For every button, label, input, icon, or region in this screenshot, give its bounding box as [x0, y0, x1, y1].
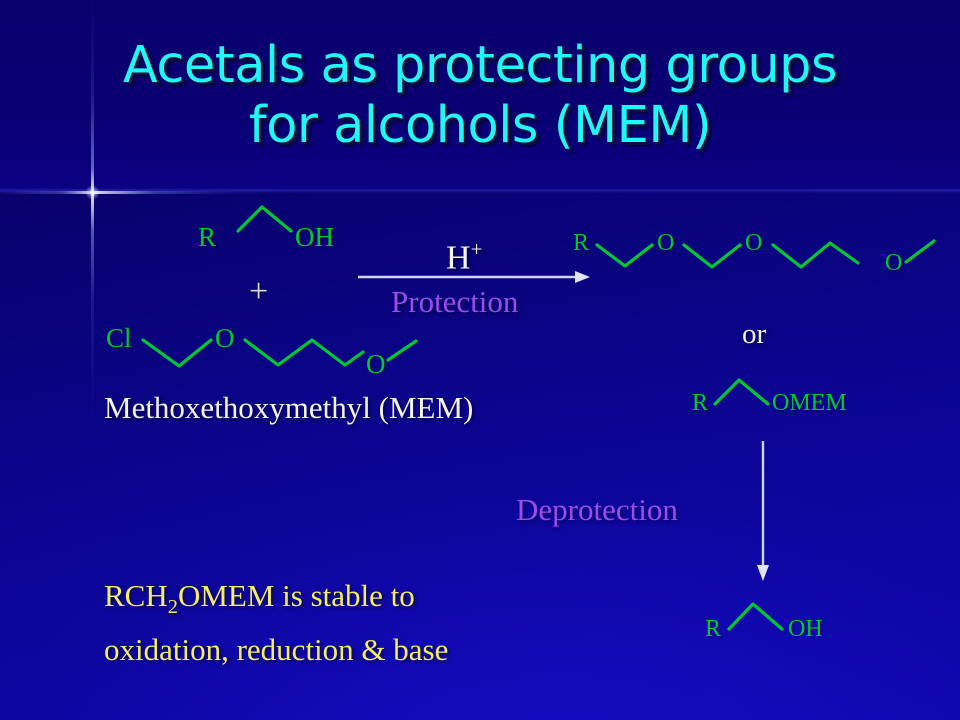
or-connector-label: or: [742, 318, 766, 351]
plus-operator: +: [249, 275, 268, 309]
acid-catalyst-label: H+: [446, 237, 482, 277]
alcohol-oh-label: OH: [295, 224, 334, 251]
product-r-label: R: [573, 231, 589, 255]
memcl-o1-label: O: [215, 325, 235, 352]
acid-catalyst-charge: +: [471, 237, 483, 261]
shorthand-omem-label: OMEM: [772, 391, 847, 415]
product-o1-label: O: [657, 231, 674, 255]
stability-formula-subscript: 2: [168, 596, 178, 618]
sparkle-core-icon: [85, 186, 100, 199]
product-o3-label: O: [885, 251, 902, 275]
page-title: Acetals as protecting groups for alcohol…: [0, 36, 960, 155]
stability-formula-prefix: RCH: [104, 578, 168, 613]
reagent-name-caption: Methoxethoxymethyl (MEM): [104, 390, 473, 426]
slide-canvas: Acetals as protecting groups for alcohol…: [0, 0, 960, 720]
deprotection-label: Deprotection: [516, 492, 678, 528]
stability-text-suffix: OMEM is stable to: [178, 578, 415, 613]
product-o2-label: O: [745, 231, 762, 255]
final-alcohol-r-label: R: [705, 617, 721, 641]
protection-label: Protection: [391, 284, 518, 320]
shorthand-r-label: R: [692, 391, 708, 415]
memcl-cl-label: Cl: [106, 325, 132, 352]
alcohol-r-label: R: [198, 224, 216, 251]
sparkle-horizontal-ray: [0, 191, 280, 194]
memcl-o2-label: O: [366, 351, 386, 378]
stability-caption-line-1: RCH2OMEM is stable to: [104, 578, 415, 619]
final-alcohol-oh-label: OH: [788, 617, 823, 641]
stability-caption-line-2: oxidation, reduction & base: [104, 632, 448, 668]
acid-catalyst-text: H: [446, 239, 471, 276]
